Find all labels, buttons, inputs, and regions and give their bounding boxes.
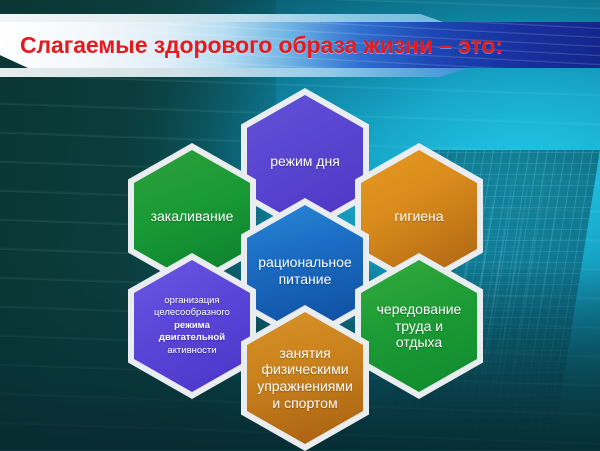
hex-fill-cheredovanie-truda: чередование труда и отдыха: [361, 260, 477, 392]
hex-label-line-4: и спортом: [257, 395, 353, 412]
hex-node-zanyatiya-sportom[interactable]: занятия физическими упражнениями и спорт…: [241, 305, 369, 451]
hex-label-rezhim-dnya: режим дня: [270, 153, 340, 170]
hex-fill-organizaciya-rezhima: организация целесообразного режима двига…: [134, 260, 250, 392]
hex-label-line-3: режима двигательной: [143, 320, 241, 345]
hex-label-racionalnoe-pitanie: рациональное питание: [258, 254, 351, 287]
hex-fill-zanyatiya-sportom: занятия физическими упражнениями и спорт…: [247, 312, 363, 444]
hex-label-line-2: физическими: [257, 361, 353, 378]
hex-label-zanyatiya-sportom: занятия физическими упражнениями и спорт…: [257, 345, 353, 411]
honeycomb-diagram: режим дня закаливание гигиена рациональн…: [0, 0, 600, 450]
hex-node-organizaciya-rezhima[interactable]: организация целесообразного режима двига…: [128, 253, 256, 399]
hex-label-gigiena: гигиена: [394, 208, 443, 225]
hex-label-line-2: труда и отдыха: [370, 318, 468, 351]
hex-label-cheredovanie-truda: чередование труда и отдыха: [370, 301, 468, 351]
hex-label-line-4: активности: [143, 345, 241, 358]
hex-label-line-1: чередование: [370, 301, 468, 318]
hex-label-line-1: организация: [143, 295, 241, 308]
hex-node-cheredovanie-truda[interactable]: чередование труда и отдыха: [355, 253, 483, 399]
hex-label-line-2: целесообразного: [143, 307, 241, 320]
hex-label-line-1: занятия: [257, 345, 353, 362]
hex-label-zakalivanie: закаливание: [151, 208, 234, 225]
hex-label-line-3: упражнениями: [257, 378, 353, 395]
hex-label-line-2: питание: [258, 271, 351, 288]
hex-label-organizaciya-rezhima: организация целесообразного режима двига…: [143, 295, 241, 358]
hex-label-line-1: рациональное: [258, 254, 351, 271]
